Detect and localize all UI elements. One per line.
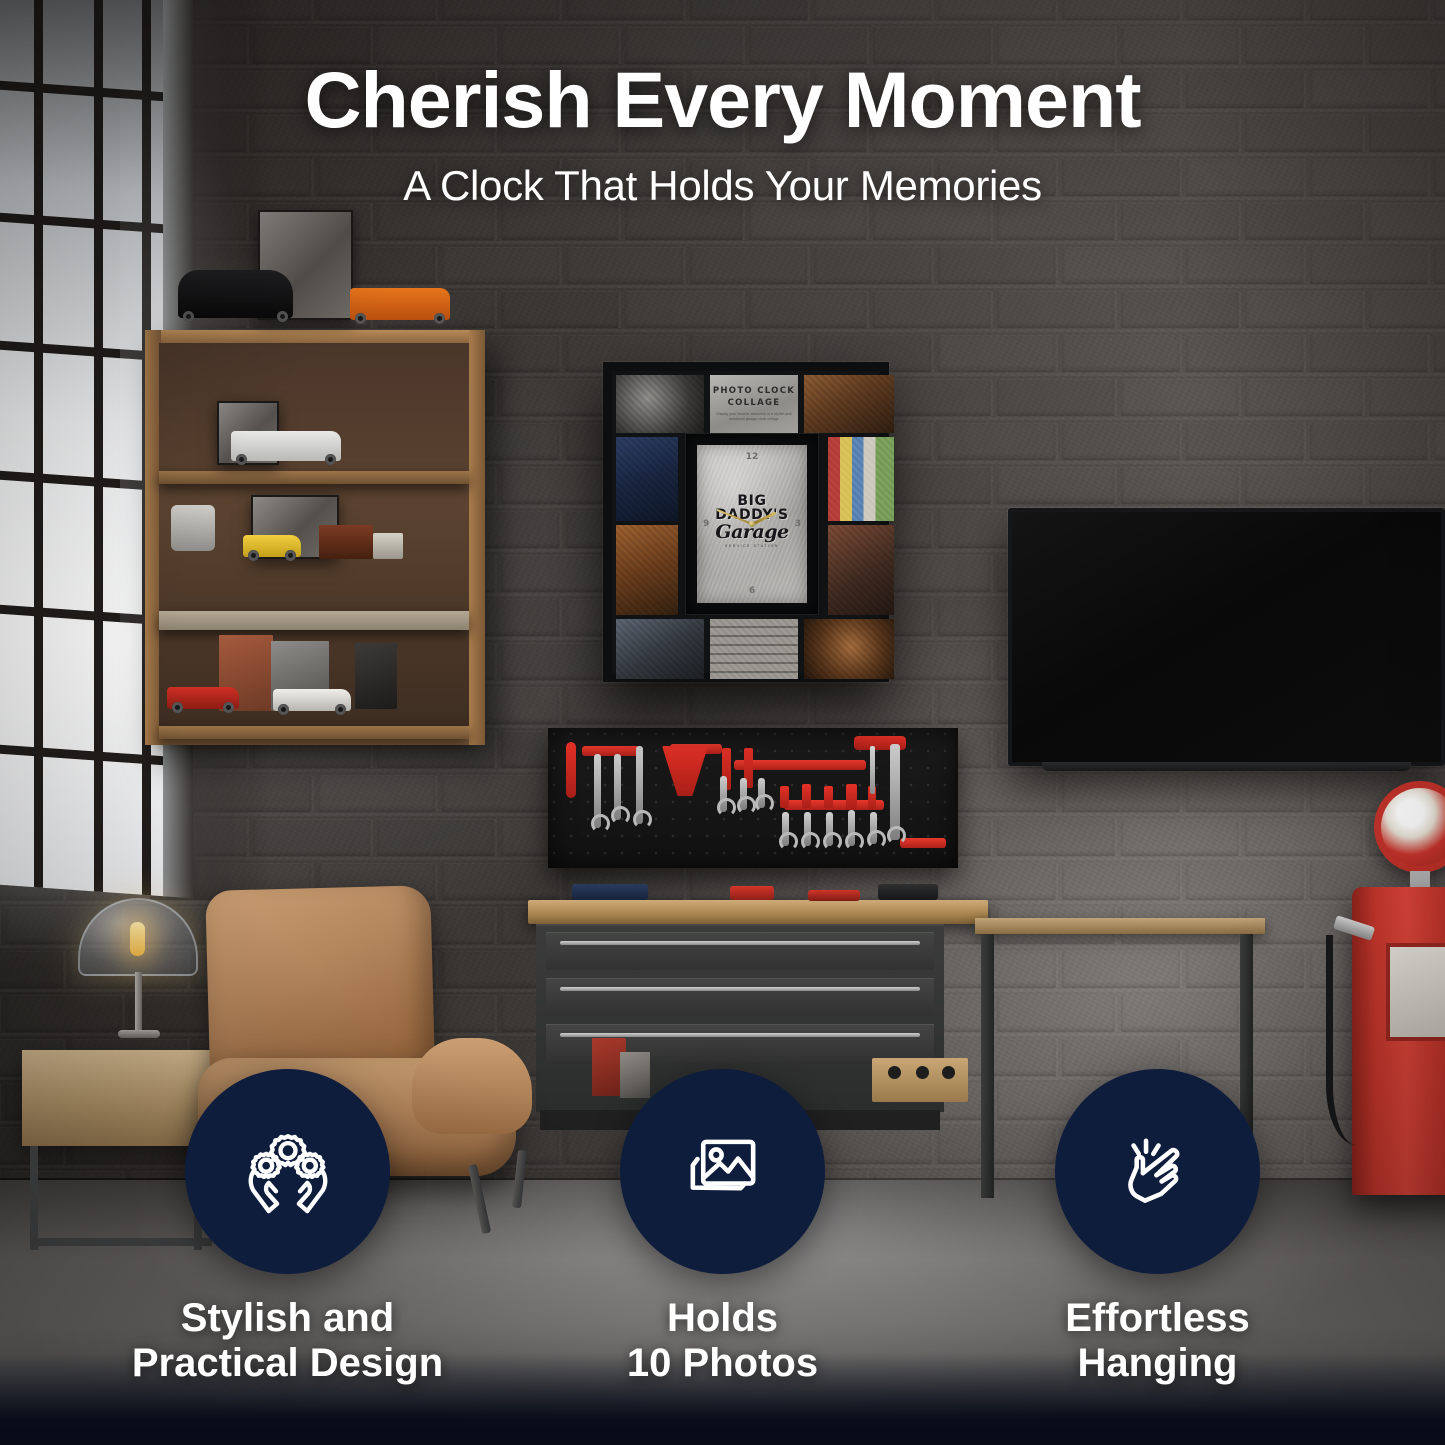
- header-block: Cherish Every Moment A Clock That Holds …: [0, 54, 1445, 210]
- wrench: [636, 746, 643, 824]
- photo-tile-engine-gears: [616, 375, 704, 433]
- hands-holding-gears-icon: [236, 1119, 340, 1223]
- photo-tile-man-working: [828, 525, 894, 615]
- clock-numeral-12: 12: [746, 452, 759, 462]
- tool-pegboard: [548, 728, 958, 868]
- feature-icon-badge: [185, 1069, 390, 1274]
- finger-snap-icon: [1106, 1119, 1210, 1223]
- wrench: [614, 754, 621, 820]
- bench-tool-red: [808, 890, 860, 901]
- pump-plate-line: [1390, 952, 1445, 961]
- page-title: Cherish Every Moment: [0, 54, 1445, 146]
- pump-plate-line: [1390, 980, 1445, 989]
- page-subtitle: A Clock That Holds Your Memories: [0, 162, 1445, 210]
- feature-item-stylish-practical-design: Stylish and Practical Design: [123, 1069, 453, 1387]
- feature-label: Stylish and Practical Design: [123, 1296, 453, 1387]
- wooden-wall-shelf: [145, 330, 485, 745]
- pry-bar: [870, 746, 875, 794]
- feature-icon-badge: [620, 1069, 825, 1274]
- photo-tile-mechanic-at-work: [616, 437, 678, 521]
- bench-tool-blue: [572, 884, 648, 900]
- wrench: [848, 810, 855, 846]
- shelf-ornament: [171, 505, 215, 551]
- bench-tool-dark: [878, 884, 938, 900]
- clock-face: 12 3 6 9 BIG DADDY'S Garage SERVICE STAT…: [697, 445, 807, 603]
- photo-tile-parts-bins: [710, 619, 798, 679]
- product-marketing-image: PHOTO CLOCKCOLLAGE Display your favorite…: [0, 0, 1445, 1445]
- photo-tile-workshop-tools: [804, 375, 894, 433]
- model-car-orange: [350, 288, 450, 320]
- model-car-cream: [273, 689, 351, 711]
- pump-plate-line: [1390, 966, 1445, 975]
- small-frame: [355, 643, 397, 709]
- edison-dome-lamp: [78, 898, 208, 1048]
- label-caption: Display your favorite memories in a styl…: [710, 412, 798, 422]
- tool-box-model: [319, 525, 373, 559]
- small-box: [373, 533, 403, 559]
- wrench: [740, 778, 747, 810]
- model-car-yellow: [243, 535, 301, 557]
- brand-tagline: SERVICE STATION: [697, 545, 807, 549]
- label-line-1: PHOTO CLOCK: [713, 386, 795, 396]
- feature-item-holds-10-photos: Holds 10 Photos: [558, 1069, 888, 1387]
- model-car-black: [178, 270, 293, 318]
- feature-label: Holds 10 Photos: [558, 1296, 888, 1387]
- wrench: [804, 812, 811, 846]
- pump-faceplate: [1386, 943, 1445, 1041]
- screwdriver-handle: [802, 784, 811, 808]
- hand-tool: [566, 742, 576, 798]
- feature-list: Stylish and Practical Design Holds 10 Ph…: [0, 1069, 1445, 1387]
- feature-icon-badge: [1055, 1069, 1260, 1274]
- wrench: [758, 778, 765, 808]
- feature-item-effortless-hanging: Effortless Hanging: [993, 1069, 1323, 1387]
- photo-tile-product-label: PHOTO CLOCKCOLLAGE Display your favorite…: [710, 375, 798, 433]
- photos-stack-icon: [671, 1119, 775, 1223]
- wrench: [782, 812, 789, 846]
- wrench: [720, 776, 727, 812]
- wall-mounted-tv: [1008, 508, 1445, 766]
- hand-tool: [662, 746, 708, 796]
- photo-tile-mechanic-under-car: [616, 619, 704, 679]
- bench-tool-red: [730, 886, 774, 900]
- screwdriver-handle: [824, 786, 833, 808]
- photo-tile-license-plates: [828, 437, 894, 521]
- screwdriver-handle: [846, 784, 857, 810]
- photo-clock-collage-product: PHOTO CLOCKCOLLAGE Display your favorite…: [603, 362, 889, 682]
- photo-tile-steering-wheel: [804, 619, 894, 679]
- photo-tile-hanging-tools: [616, 525, 678, 615]
- label-line-2: COLLAGE: [728, 398, 781, 408]
- feature-label: Effortless Hanging: [993, 1296, 1323, 1387]
- screwdriver-handle: [780, 786, 789, 808]
- model-car-red: [167, 687, 239, 709]
- clock-numeral-6: 6: [749, 586, 755, 596]
- large-wrench: [890, 744, 900, 840]
- wrench: [826, 812, 833, 846]
- wrench: [870, 812, 877, 844]
- clock-bezel: 12 3 6 9 BIG DADDY'S Garage SERVICE STAT…: [686, 434, 818, 614]
- clock-center-pin: [749, 521, 755, 527]
- model-car-white: [231, 431, 341, 461]
- wrench: [594, 754, 601, 828]
